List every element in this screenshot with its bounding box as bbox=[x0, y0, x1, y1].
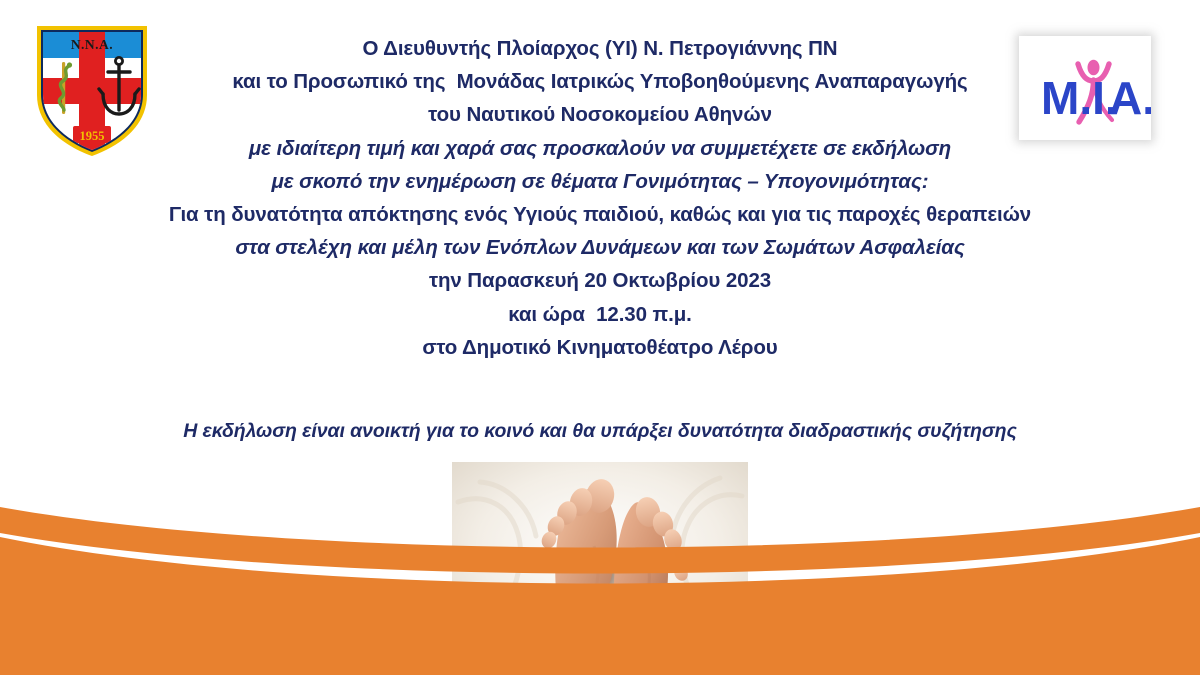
invitation-event-time: και ώρα 12.30 π.μ. bbox=[90, 298, 1110, 331]
newborn-baby-feet-photo bbox=[452, 462, 748, 650]
invitation-event-date: την Παρασκευή 20 Οκτωβρίου 2023 bbox=[90, 264, 1110, 297]
invitation-line-4: με ιδιαίτερη τιμή και χαρά σας προσκαλού… bbox=[90, 132, 1110, 165]
closing-note-block: Η εκδήλωση είναι ανοικτή για το κοινό κα… bbox=[90, 415, 1110, 448]
invitation-line-7: στα στελέχη και μέλη των Ενόπλων Δυνάμεω… bbox=[90, 231, 1110, 264]
invitation-line-2: και το Προσωπικό της Μονάδας Ιατρικώς Υπ… bbox=[90, 65, 1110, 98]
invitation-line-1: Ο Διευθυντής Πλοίαρχος (ΥΙ) Ν. Πετρογιάν… bbox=[90, 32, 1110, 65]
invitation-line-6: Για τη δυνατότητα απόκτησης ενός Υγιούς … bbox=[90, 198, 1110, 231]
closing-note-text: Η εκδήλωση είναι ανοικτή για το κοινό κα… bbox=[90, 415, 1110, 448]
invitation-event-venue: στο Δημοτικό Κινηματοθέατρο Λέρου bbox=[90, 331, 1110, 364]
invitation-text-block: Ο Διευθυντής Πλοίαρχος (ΥΙ) Ν. Πετρογιάν… bbox=[90, 32, 1110, 364]
invitation-line-3: του Ναυτικού Νοσοκομείου Αθηνών bbox=[90, 98, 1110, 131]
invitation-poster: N.N.A. 1955 M.I. A. Ο Διευθυντής Πλοίαρχ… bbox=[0, 0, 1200, 675]
miya-text-right: A. bbox=[1109, 72, 1151, 124]
invitation-line-5: με σκοπό την ενημέρωση σε θέματα Γονιμότ… bbox=[90, 165, 1110, 198]
